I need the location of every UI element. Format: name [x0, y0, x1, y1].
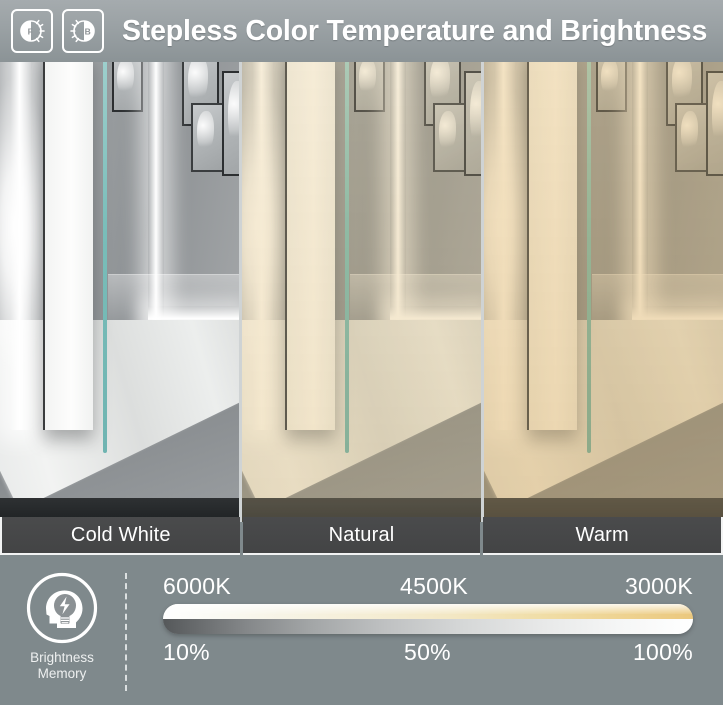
framed-art — [222, 71, 239, 176]
framed-art — [191, 103, 224, 171]
mirror-photo-warm — [484, 62, 723, 522]
color-temperature-icon: F — [11, 9, 53, 53]
reflected-led-strip — [390, 62, 406, 338]
header-bar: F B — [0, 0, 723, 62]
panel-cold-white — [0, 62, 239, 522]
panel-natural — [242, 62, 481, 522]
mirror-glass-edge — [345, 62, 349, 453]
mirror-photo-natural — [242, 62, 481, 522]
kelvin-label-middle: 4500K — [400, 573, 468, 600]
memory-label-line2: Memory — [12, 666, 112, 682]
framed-art — [464, 71, 481, 176]
brightness-label-left: 10% — [163, 639, 210, 666]
brightness-label-right: 100% — [633, 639, 693, 666]
kelvin-label-left: 6000K — [163, 573, 231, 600]
framed-art — [433, 103, 466, 171]
svg-text:F: F — [28, 27, 33, 37]
brightness-icon: B — [62, 9, 104, 53]
brightness-memory-feature: Brightness Memory — [12, 571, 112, 682]
brightness-label-middle: 50% — [404, 639, 451, 666]
kelvin-label-right: 3000K — [625, 573, 693, 600]
head-lightbulb-icon — [25, 571, 99, 645]
page-title: Stepless Color Temperature and Brightnes… — [122, 15, 707, 48]
panel-warm — [484, 62, 723, 522]
mirror-panel-face — [285, 62, 335, 430]
reflected-led-strip — [148, 62, 164, 338]
mirror-glass-edge — [587, 62, 591, 453]
product-feature-card: F B — [0, 0, 723, 705]
kelvin-scale-labels: 6000K 4500K 3000K — [163, 573, 693, 600]
brightness-memory-label: Brightness Memory — [12, 650, 112, 682]
brightness-scale-labels: 10% 50% 100% — [163, 639, 693, 666]
led-light-bar — [10, 62, 32, 430]
led-light-bar — [252, 62, 274, 430]
color-temperature-brightness-slider[interactable] — [163, 604, 693, 634]
memory-label-line1: Brightness — [12, 650, 112, 666]
panel-label-bar: Cold White Natural Warm — [0, 517, 723, 555]
framed-art — [112, 62, 142, 112]
panel-label-natural: Natural — [243, 517, 481, 555]
svg-text:B: B — [85, 27, 91, 37]
framed-art — [706, 71, 723, 176]
temperature-brightness-control: 6000K 4500K 3000K 10% 50% 100% — [163, 573, 693, 666]
color-temperature-comparison — [0, 62, 723, 522]
color-temperature-gradient — [163, 604, 693, 619]
mirror-photo-cold — [0, 62, 239, 522]
mirror-glass-edge — [103, 62, 107, 453]
mirror-panel-face — [527, 62, 577, 430]
panel-label-warm: Warm — [483, 517, 723, 555]
brightness-gradient — [163, 619, 693, 634]
panel-label-cold-white: Cold White — [0, 517, 240, 555]
framed-art — [596, 62, 626, 112]
mirror-panel-face — [43, 62, 93, 430]
reflected-led-strip — [632, 62, 648, 338]
framed-art — [354, 62, 384, 112]
section-divider — [125, 573, 127, 691]
slider-section: Brightness Memory 6000K 4500K 3000K 10% … — [0, 557, 723, 705]
framed-art — [675, 103, 708, 171]
led-light-bar — [494, 62, 516, 430]
